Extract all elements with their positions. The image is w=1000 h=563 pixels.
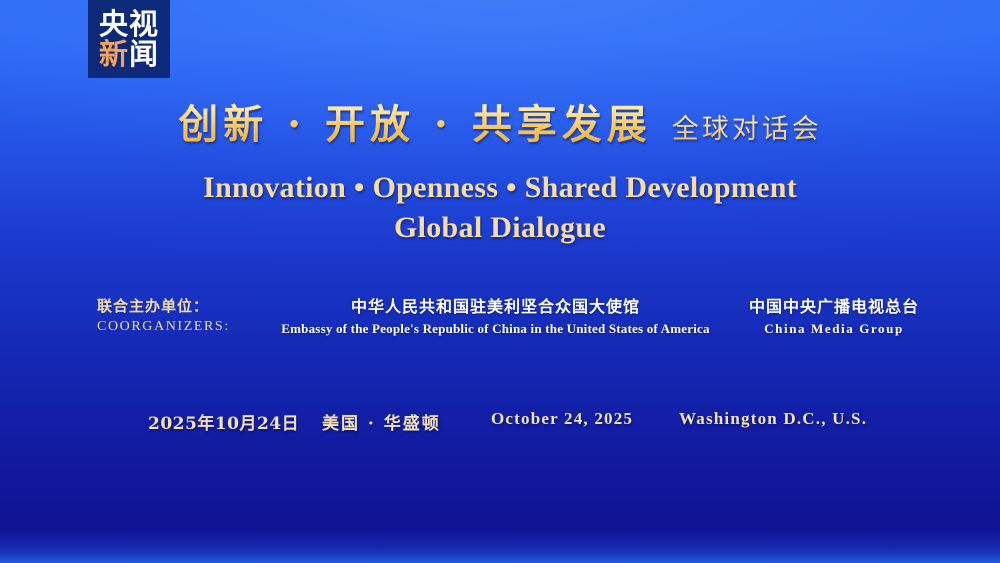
event-date-en: October 24, 2025 — [491, 409, 633, 429]
title-english-line-1: Innovation • Openness • Shared Developme… — [0, 168, 1000, 208]
organizer-embassy: 中华人民共和国驻美利坚合众国大使馆 Embassy of the People'… — [252, 297, 739, 338]
event-banner-backdrop: 央视 新闻 创新 · 开放 · 共享发展 全球对话会 Innovation • … — [0, 0, 1000, 563]
coorganizers-label-cn: 联合主办单位： — [97, 297, 230, 316]
event-location-en: Washington D.C., U.S. — [679, 409, 867, 429]
organizer-embassy-en: Embassy of the People's Republic of Chin… — [252, 321, 739, 338]
logo-line-xinwen: 新闻 — [99, 40, 159, 69]
title-english: Innovation • Openness • Shared Developme… — [0, 168, 1000, 248]
logo-char-xin: 新 — [99, 37, 129, 71]
coorganizers-block: 联合主办单位： COORGANIZERS: 中华人民共和国驻美利坚合众国大使馆 … — [0, 297, 1000, 349]
coorganizers-label-en: COORGANIZERS: — [97, 318, 230, 336]
organizer-cmg-en: China Media Group — [739, 321, 929, 338]
title-chinese-main: 创新 · 开放 · 共享发展 — [178, 92, 652, 150]
organizer-cmg-cn: 中国中央广播电视总台 — [739, 297, 929, 318]
event-meta-block: 2025年10月24日 美国 · 华盛顿 October 24, 2025 Wa… — [0, 409, 1000, 433]
logo-line-yangshi: 央视 — [99, 10, 159, 39]
event-date-cn: 2025年10月24日 — [148, 409, 299, 434]
event-location-cn: 美国 · 华盛顿 — [322, 409, 441, 434]
organizer-china-media-group: 中国中央广播电视总台 China Media Group — [739, 297, 929, 338]
organizer-embassy-cn: 中华人民共和国驻美利坚合众国大使馆 — [252, 297, 739, 318]
coorganizers-label: 联合主办单位： COORGANIZERS: — [97, 297, 230, 336]
cctv-news-logo: 央视 新闻 — [88, 0, 170, 78]
headline-block: 创新 · 开放 · 共享发展 全球对话会 Innovation • Openne… — [0, 92, 1000, 248]
title-chinese: 创新 · 开放 · 共享发展 全球对话会 — [0, 92, 1000, 150]
title-english-line-2: Global Dialogue — [0, 208, 1000, 248]
logo-char-wen: 闻 — [129, 37, 159, 71]
title-chinese-subtitle: 全球对话会 — [672, 107, 822, 146]
